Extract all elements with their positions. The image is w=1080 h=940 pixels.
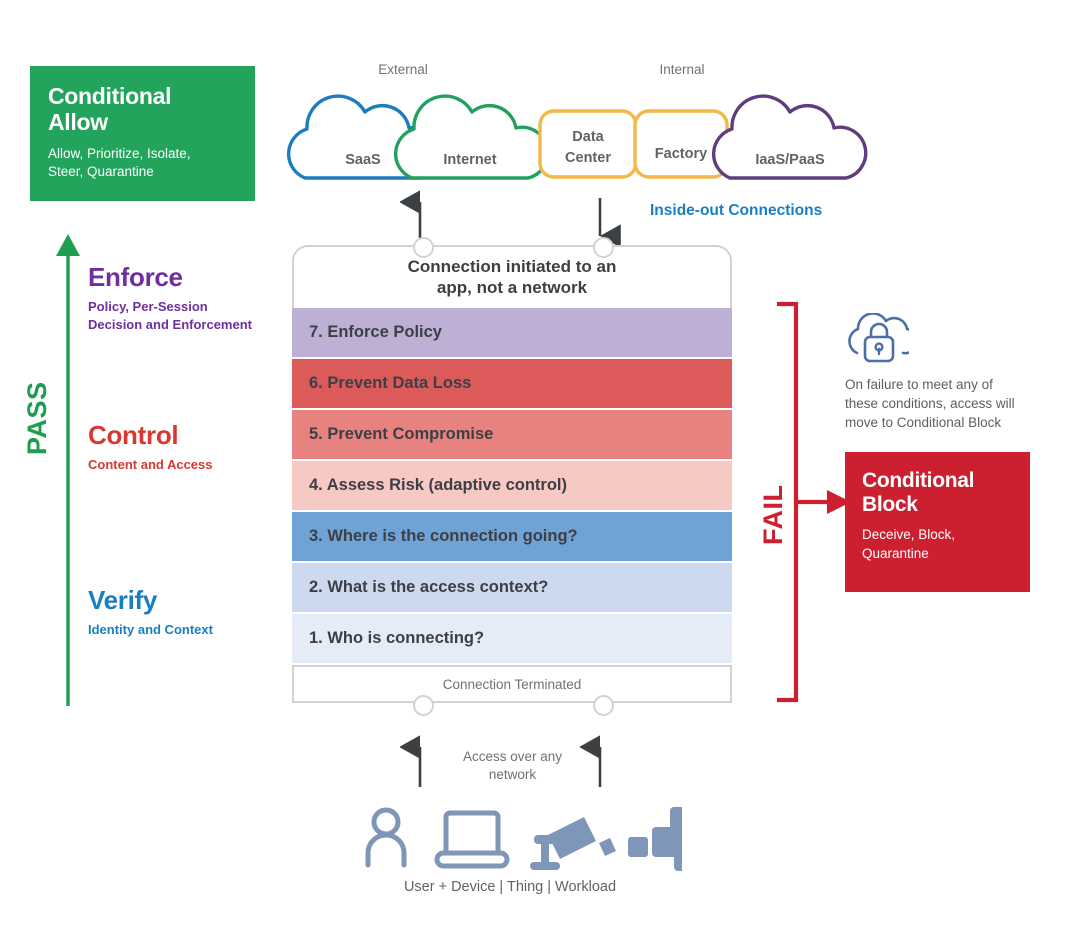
step-label: 2. What is the access context?: [309, 578, 548, 597]
stack-footer: Connection Terminated: [292, 665, 732, 703]
cloud-lock-icon: [845, 313, 909, 369]
access-note-line1: Access over any: [440, 748, 585, 766]
connection-stack: Connection initiated to an app, not a ne…: [292, 245, 732, 703]
pass-arrow: [52, 232, 84, 708]
level-verify-title: Verify: [88, 585, 213, 616]
conditional-allow-box: Conditional Allow Allow, Prioritize, Iso…: [30, 66, 255, 201]
level-enforce-title: Enforce: [88, 262, 252, 293]
laptop-icon: [437, 813, 507, 866]
step-row-7[interactable]: 7. Enforce Policy: [292, 308, 732, 357]
conditional-block-title-line2: Block: [862, 493, 1016, 517]
endpoint-icons: [352, 805, 682, 873]
fail-label: FAIL: [758, 485, 789, 546]
conditional-allow-subtitle-line1: Allow, Prioritize, Isolate,: [48, 145, 239, 164]
conditional-allow-subtitle: Allow, Prioritize, Isolate, Steer, Quara…: [48, 145, 239, 182]
external-label: External: [343, 62, 463, 77]
step-row-5[interactable]: 5. Prevent Compromise: [292, 410, 732, 459]
stack-bottom-right-knob: [593, 695, 614, 716]
stack-top-left-knob: [413, 237, 434, 258]
step-label: 4. Assess Risk (adaptive control): [309, 476, 567, 495]
step-list: 7. Enforce Policy6. Prevent Data Loss5. …: [292, 308, 732, 663]
step-row-6[interactable]: 6. Prevent Data Loss: [292, 359, 732, 408]
conditional-block-subtitle-line2: Quarantine: [862, 545, 1016, 564]
svg-text:Center: Center: [565, 150, 611, 166]
step-row-2[interactable]: 2. What is the access context?: [292, 563, 732, 612]
workload-icon: [628, 807, 682, 871]
stack-header: Connection initiated to an app, not a ne…: [292, 245, 732, 308]
level-verify-subtitle: Identity and Context: [88, 621, 213, 639]
conditional-block-title-line1: Conditional: [862, 469, 1016, 493]
conditional-block-title: Conditional Block: [862, 469, 1016, 517]
level-enforce: Enforce Policy, Per-Session Decision and…: [88, 262, 252, 335]
fail-note-line1: On failure to meet any of: [845, 375, 1060, 394]
level-control-subtitle: Content and Access: [88, 456, 213, 474]
conditional-block-box: Conditional Block Deceive, Block, Quaran…: [845, 452, 1030, 592]
conditional-allow-title: Conditional Allow: [48, 84, 239, 136]
conditional-block-subtitle-line1: Deceive, Block,: [862, 526, 1016, 545]
step-label: 3. Where is the connection going?: [309, 527, 578, 546]
conditional-allow-subtitle-line2: Steer, Quarantine: [48, 163, 239, 182]
step-row-4[interactable]: 4. Assess Risk (adaptive control): [292, 461, 732, 510]
stack-header-line1: Connection initiated to an: [408, 257, 617, 278]
level-control: Control Content and Access: [88, 420, 213, 474]
conditional-allow-title-line1: Conditional: [48, 84, 239, 110]
stack-top-right-knob: [593, 237, 614, 258]
level-verify: Verify Identity and Context: [88, 585, 213, 639]
step-row-3[interactable]: 3. Where is the connection going?: [292, 512, 732, 561]
step-row-1[interactable]: 1. Who is connecting?: [292, 614, 732, 663]
step-label: 5. Prevent Compromise: [309, 425, 493, 444]
step-label: 6. Prevent Data Loss: [309, 374, 471, 393]
step-label: 7. Enforce Policy: [309, 323, 442, 342]
fail-note: On failure to meet any of these conditio…: [845, 375, 1060, 432]
destinations-row: SaaS Internet Data Center Data Center Fa…: [280, 80, 880, 205]
level-enforce-subtitle: Policy, Per-Session Decision and Enforce…: [88, 298, 252, 335]
inside-out-connections-label: Inside-out Connections: [650, 202, 822, 220]
conditional-allow-title-line2: Allow: [48, 110, 239, 136]
svg-text:Data: Data: [572, 129, 604, 145]
factory-box: [635, 111, 727, 177]
user-icon: [368, 810, 404, 865]
fail-note-line2: these conditions, access will: [845, 394, 1060, 413]
fail-note-line3: move to Conditional Block: [845, 413, 1060, 432]
saas-label: SaaS: [345, 152, 381, 168]
stack-bottom-left-knob: [413, 695, 434, 716]
access-note: Access over any network: [440, 748, 585, 784]
pass-label: PASS: [22, 381, 53, 455]
level-control-title: Control: [88, 420, 213, 451]
access-note-line2: network: [440, 766, 585, 784]
camera-icon: [530, 817, 616, 870]
level-enforce-subtitle-line2: Decision and Enforcement: [88, 316, 252, 334]
internal-label: Internal: [622, 62, 742, 77]
step-label: 1. Who is connecting?: [309, 629, 484, 648]
level-enforce-subtitle-line1: Policy, Per-Session: [88, 298, 252, 316]
factory-label: Factory: [655, 146, 707, 162]
stack-header-line2: app, not a network: [408, 278, 617, 299]
iaas-paas-label: IaaS/PaaS: [755, 152, 825, 168]
internet-label: Internet: [443, 152, 496, 168]
endpoint-caption: User + Device | Thing | Workload: [330, 879, 690, 895]
conditional-block-subtitle: Deceive, Block, Quarantine: [862, 526, 1016, 563]
